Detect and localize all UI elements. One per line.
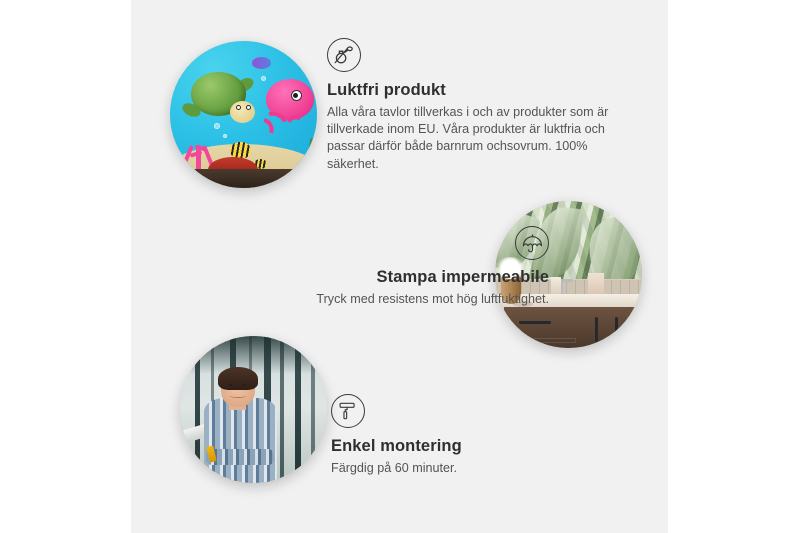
feature-panel: Luktfri produkt Alla våra tavlor tillver… [131,0,668,533]
no-fragrance-icon [327,38,361,72]
umbrella-icon [515,226,549,260]
feature-title: Stampa impermeabile [217,268,549,287]
feature-title: Enkel montering [331,437,631,456]
underwater-scene-art [170,41,317,188]
woman-eye [229,384,232,386]
feature-description: Alla våra tavlor tillverkas i och av pro… [327,104,627,173]
forest-canopy-shadow [180,336,327,374]
soap-dispenser [551,277,561,295]
feature-mounting: Enkel montering Färgdig på 60 minuter. [331,394,631,477]
product-image-painter-forest[interactable] [180,336,327,483]
feature-description: Färgdig på 60 minuter. [331,460,631,477]
vanity-drawer [515,338,576,343]
painter-scene-art [180,336,327,483]
woman-folded-arms [206,449,274,465]
screenshot-root: Luktfri produkt Alla våra tavlor tillver… [0,0,800,533]
paint-roller-icon [331,394,365,428]
cabinet-handle [595,317,598,342]
feature-title: Luktfri produkt [327,81,627,100]
feature-waterproof: Stampa impermeabile Tryck med resistens … [217,226,549,308]
bubble-icon [223,134,227,138]
woman-torso-plaid-shirt [204,398,278,483]
woman-smile [230,394,246,398]
sea-floor-shadow [170,169,317,188]
feature-odourless: Luktfri produkt Alla våra tavlor tillver… [327,38,627,173]
product-image-underwater-scene[interactable] [170,41,317,188]
feature-description: Tryck med resistens mot hög luftfuktighe… [217,291,549,308]
wood-vanity-cabinet [504,307,642,348]
woman-hair [218,367,258,391]
